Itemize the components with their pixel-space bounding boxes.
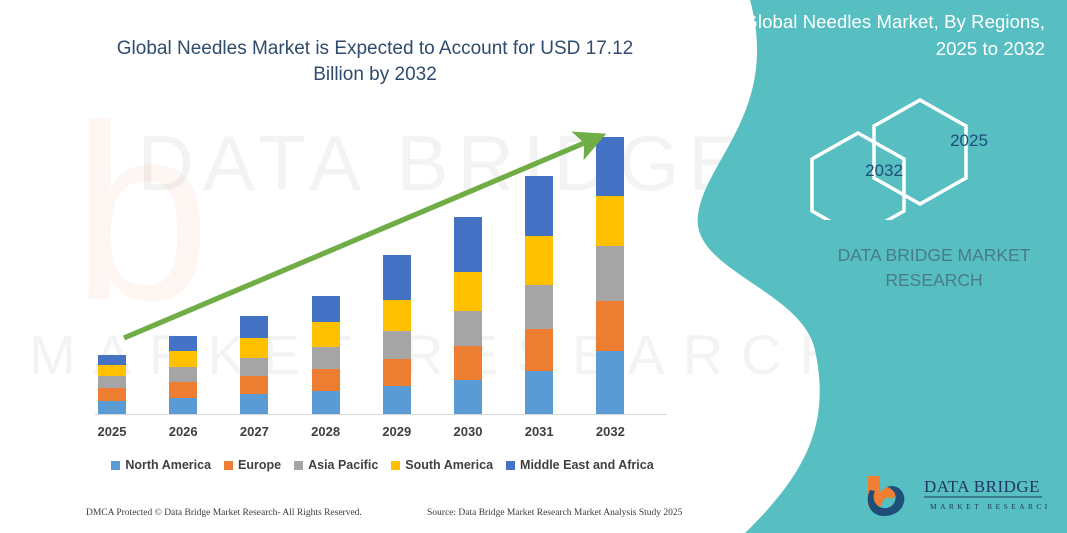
bar-segment-2025-north-america [98,401,126,415]
panel-brand-text: DATA BRIDGE MARKET RESEARCH [790,243,1067,293]
data-bridge-logo: DATA BRIDGE MARKET RESEARCH [862,472,1047,520]
bar-segment-2027-north-america [240,394,268,415]
bar-segment-2032-south-america [596,196,624,246]
footer-source: Source: Data Bridge Market Research Mark… [427,508,682,518]
x-axis-label-2029: 2029 [367,424,427,439]
bar-segment-2030-south-america [454,272,482,311]
legend-item-europe[interactable]: Europe [224,458,281,472]
bar-segment-2025-europe [98,388,126,401]
x-axis-label-2032: 2032 [580,424,640,439]
bar-segment-2030-asia-pacific [454,311,482,346]
bar-segment-2032-north-america [596,351,624,415]
bar-segment-2032-middle-east-and-africa [596,137,624,196]
bar-segment-2027-middle-east-and-africa [240,316,268,338]
bar-2025 [98,355,126,415]
logo-tagline: MARKET RESEARCH [930,502,1047,511]
x-axis-label-2030: 2030 [438,424,498,439]
bar-segment-2031-middle-east-and-africa [525,176,553,236]
legend-label: Asia Pacific [308,458,378,472]
bar-segment-2032-europe [596,301,624,351]
bar-segment-2027-asia-pacific [240,358,268,376]
legend-item-asia-pacific[interactable]: Asia Pacific [294,458,378,472]
bar-2029 [383,255,411,415]
hexagon-2025-label: 2025 [943,131,995,151]
chart-legend: North AmericaEuropeAsia PacificSouth Ame… [95,455,670,475]
bar-segment-2026-europe [169,382,197,398]
legend-swatch-icon [224,461,233,470]
bar-segment-2031-asia-pacific [525,285,553,329]
panel-title: Global Needles Market, By Regions, 2025 … [735,8,1045,62]
hexagon-2025-shape [874,100,966,204]
bar-segment-2031-north-america [525,371,553,415]
bar-segment-2025-asia-pacific [98,376,126,388]
bar-segment-2032-asia-pacific [596,246,624,301]
x-axis-label-2025: 2025 [82,424,142,439]
bar-segment-2028-middle-east-and-africa [312,296,340,322]
x-axis-label-2028: 2028 [296,424,356,439]
bar-segment-2030-middle-east-and-africa [454,217,482,272]
x-axis-label-2027: 2027 [224,424,284,439]
bar-segment-2026-south-america [169,351,197,367]
hexagon-2032-label: 2032 [858,161,910,181]
legend-label: Europe [238,458,281,472]
bar-segment-2029-middle-east-and-africa [383,255,411,300]
bar-2031 [525,176,553,415]
legend-swatch-icon [111,461,120,470]
bar-segment-2026-asia-pacific [169,367,197,382]
x-axis-label-2031: 2031 [509,424,569,439]
bar-segment-2027-europe [240,376,268,394]
bar-segment-2028-asia-pacific [312,347,340,369]
bar-segment-2029-europe [383,359,411,386]
bar-segment-2029-south-america [383,300,411,331]
legend-label: Middle East and Africa [520,458,654,472]
logo-name: DATA BRIDGE [924,477,1040,496]
bar-segment-2025-south-america [98,365,126,376]
legend-item-south-america[interactable]: South America [391,458,493,472]
legend-swatch-icon [294,461,303,470]
bar-segment-2028-europe [312,369,340,391]
legend-label: South America [405,458,493,472]
bar-segment-2028-north-america [312,391,340,415]
bar-2032 [596,137,624,415]
bar-segment-2029-north-america [383,386,411,415]
bar-2027 [240,316,268,415]
legend-swatch-icon [506,461,515,470]
chart-plot-area [95,120,670,415]
bar-segment-2031-europe [525,329,553,371]
bar-segment-2027-south-america [240,338,268,358]
bar-segment-2025-middle-east-and-africa [98,355,126,365]
bar-2026 [169,336,197,415]
legend-label: North America [125,458,211,472]
bar-2030 [454,217,482,415]
bar-segment-2029-asia-pacific [383,331,411,359]
chart-baseline [95,414,667,415]
legend-swatch-icon [391,461,400,470]
bar-segment-2028-south-america [312,322,340,347]
x-axis-label-2026: 2026 [153,424,213,439]
bar-segment-2026-middle-east-and-africa [169,336,197,351]
hexagon-badges: 2025 2032 [800,95,1030,220]
bar-segment-2026-north-america [169,398,197,415]
legend-item-middle-east-and-africa[interactable]: Middle East and Africa [506,458,654,472]
bar-segment-2030-europe [454,346,482,380]
legend-item-north-america[interactable]: North America [111,458,211,472]
bar-segment-2030-north-america [454,380,482,415]
infographic-canvas: b DATA BRIDGE MARKET RESEARCH Global Nee… [0,0,1067,533]
footer-copyright: DMCA Protected © Data Bridge Market Rese… [86,508,362,518]
bar-segment-2031-south-america [525,236,553,285]
bar-2028 [312,296,340,415]
chart-x-axis-labels: 20252026202720282029203020312032 [95,424,667,446]
page-title: Global Needles Market is Expected to Acc… [95,36,655,88]
